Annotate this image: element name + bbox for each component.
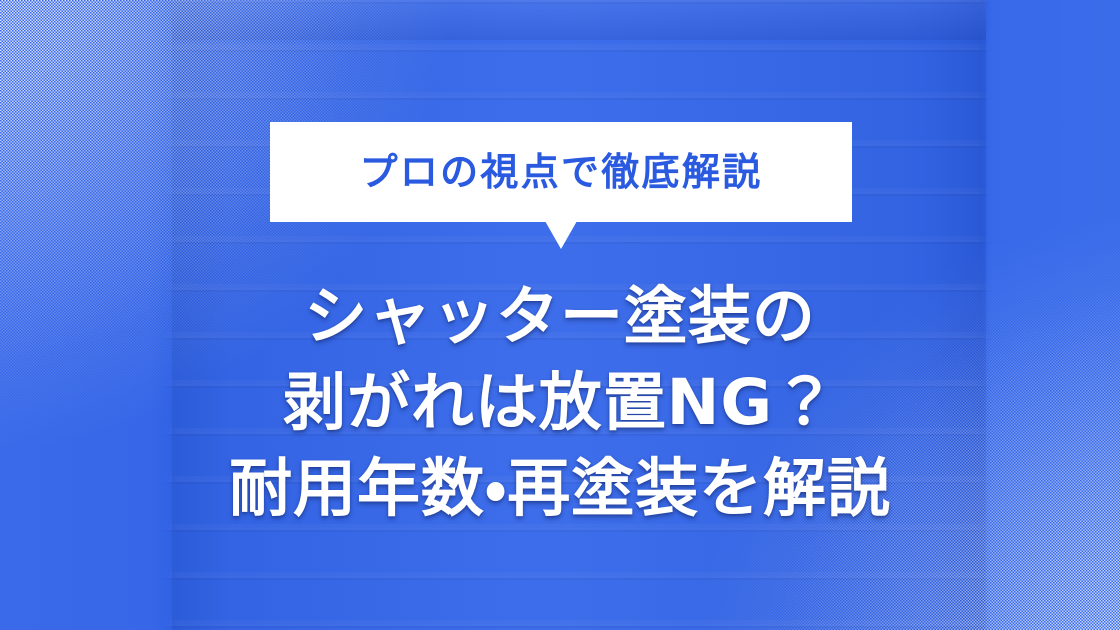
headline-line-3: 耐用年数・再塗装を解説	[0, 446, 1120, 532]
headline-line-2: 剥がれは放置NG？	[0, 360, 1120, 446]
badge-pointer-triangle	[545, 221, 577, 249]
thumbnail-canvas: プロの視点で徹底解説 シャッター塗装の 剥がれは放置NG？ 耐用年数・再塗装を解…	[0, 0, 1120, 630]
badge-callout: プロの視点で徹底解説	[270, 122, 852, 222]
badge-label: プロの視点で徹底解説	[360, 153, 763, 191]
headline-line-1: シャッター塗装の	[0, 274, 1120, 360]
headline-block: シャッター塗装の 剥がれは放置NG？ 耐用年数・再塗装を解説	[0, 274, 1120, 532]
